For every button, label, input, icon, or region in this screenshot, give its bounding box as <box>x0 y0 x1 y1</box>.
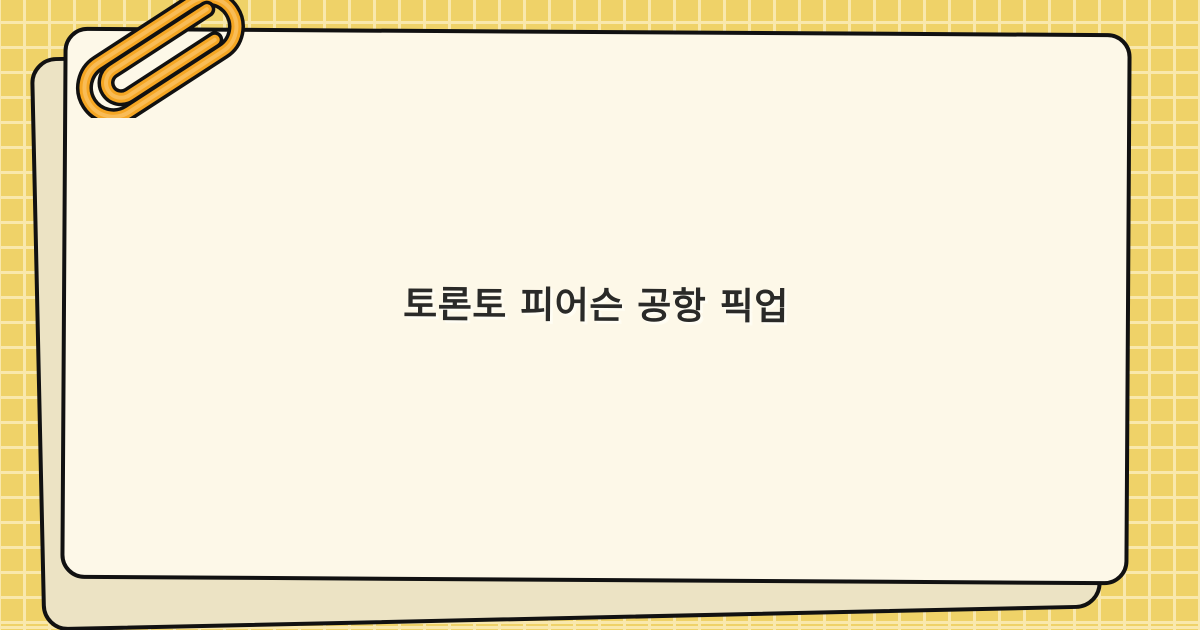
note-card: 토론토 피어슨 공항 픽업 <box>60 27 1131 586</box>
poster-stage: 토론토 피어슨 공항 픽업 <box>0 0 1200 630</box>
page-title: 토론토 피어슨 공항 픽업 <box>343 279 849 332</box>
